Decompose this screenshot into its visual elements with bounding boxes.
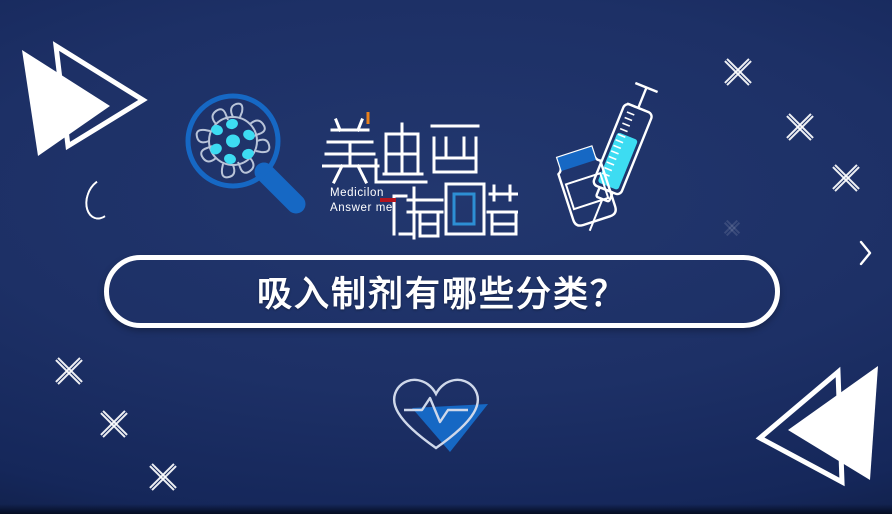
double-triangle-right-icon — [8, 28, 168, 188]
x-mark-bottom-left-3 — [146, 460, 180, 494]
x-mark-bottom-left-2 — [97, 407, 131, 441]
chevron-right-icon[interactable] — [859, 240, 872, 266]
logo-english-text: Medicilon Answer me — [330, 186, 393, 215]
syringe-vial-icon — [548, 78, 672, 248]
logo-en-line2: Answer me — [330, 201, 393, 216]
medicilon-logo: Medicilon Answer me — [322, 108, 518, 240]
promo-banner: Medicilon Answer me 吸入制剂有哪些分类？ — [0, 0, 892, 514]
heart-pulse-icon — [384, 368, 488, 452]
page-title: 吸入制剂有哪些分类？ — [257, 266, 627, 317]
x-mark-top-right-2 — [783, 110, 817, 144]
double-triangle-left-icon — [738, 360, 892, 514]
x-mark-right-faint — [723, 219, 741, 237]
logo-en-line1: Medicilon — [330, 186, 393, 201]
x-mark-bottom-left-1 — [52, 354, 86, 388]
x-mark-top-right-1 — [721, 55, 755, 89]
x-mark-top-right-3 — [829, 161, 863, 195]
magnifier-virus-icon — [180, 88, 312, 216]
question-title-pill: 吸入制剂有哪些分类？ — [104, 255, 780, 328]
